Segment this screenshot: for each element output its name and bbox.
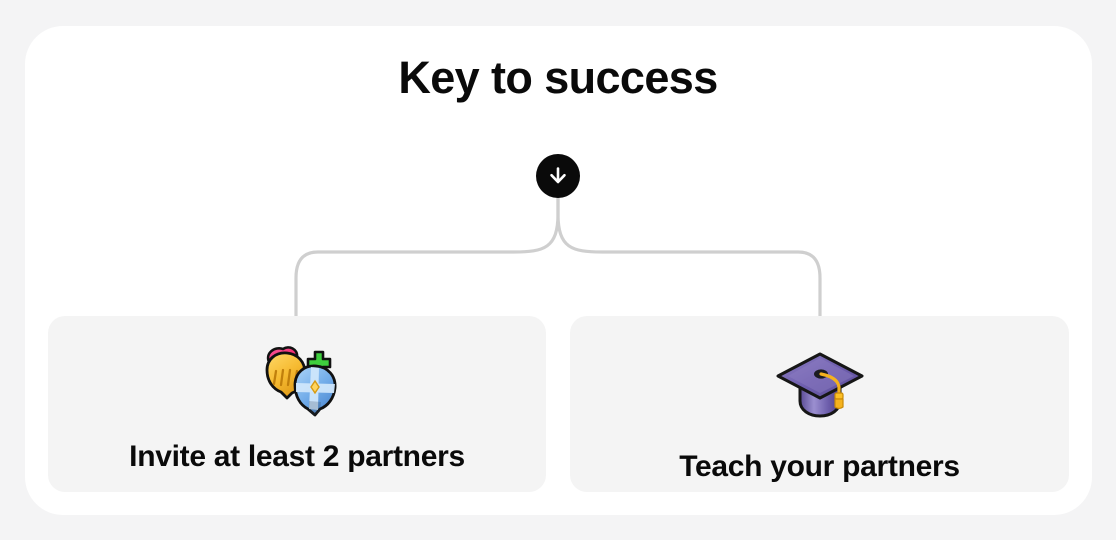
card-teach-partners[interactable]: Teach your partners: [570, 316, 1069, 492]
page-title: Key to success: [0, 49, 1116, 107]
card-label-teach-partners: Teach your partners: [679, 450, 960, 484]
arrow-down-badge: [536, 154, 580, 198]
card-label-invite-partners: Invite at least 2 partners: [129, 440, 465, 474]
knight-helmets-plus-icon: [251, 340, 343, 424]
key-to-success-panel: Key to success: [0, 0, 1116, 540]
arrow-down-icon: [546, 164, 570, 188]
graduation-cap-icon: [774, 344, 866, 428]
card-invite-partners[interactable]: Invite at least 2 partners: [48, 316, 546, 492]
